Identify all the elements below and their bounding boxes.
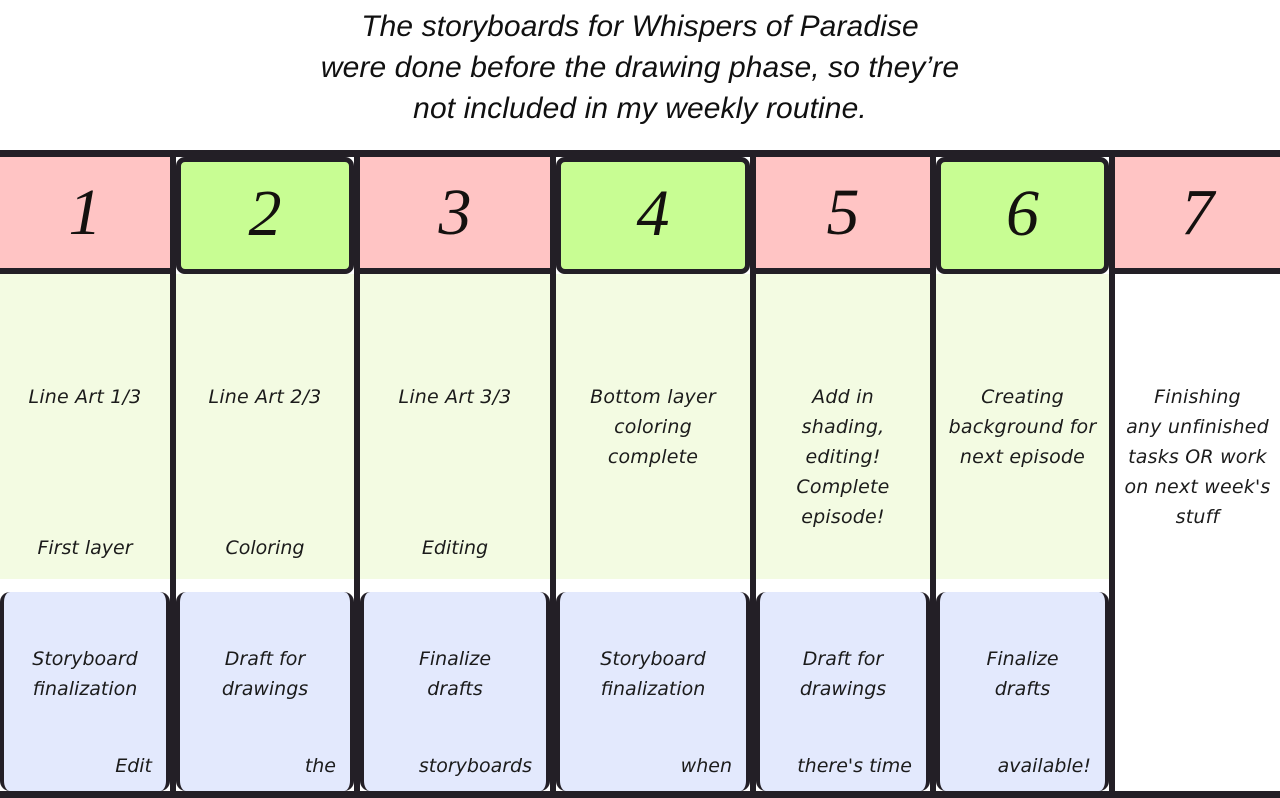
task-text: Line Art 2/3 [184,382,346,412]
task-footer-text [764,561,922,571]
caption-line-2: were done before the drawing phase, so t… [321,47,959,88]
note-text: Storyboardfinalization [16,644,154,704]
note-text: Finalizedrafts [376,644,534,704]
day-number-label: 4 [637,181,670,247]
section-gap [756,579,930,592]
task-cell-4[interactable]: Bottom layercoloringcomplete [556,274,750,579]
day-number-label: 2 [249,181,282,247]
day-column-3[interactable]: 3Line Art 3/3EditingFinalizedraftsstoryb… [360,157,556,791]
day-number-cell-6[interactable]: 6 [936,157,1109,274]
task-footer-text: Editing [368,535,542,571]
note-footer-text: there's time [770,753,916,785]
day-number-cell-1[interactable]: 1 [0,157,170,274]
note-cell-1[interactable]: StoryboardfinalizationEdit [0,592,170,791]
day-number-label: 6 [1006,181,1039,247]
section-gap [360,579,550,592]
note-cell-3[interactable]: Finalizedraftsstoryboards [360,592,550,791]
section-gap [0,579,170,592]
caption-line-3: not included in my weekly routine. [413,88,867,129]
day-column-1[interactable]: 1Line Art 1/3First layerStoryboardfinali… [0,157,176,791]
task-cell-6[interactable]: Creatingbackground fornext episode [936,274,1109,579]
note-cell-4[interactable]: Storyboardfinalizationwhen [556,592,750,791]
note-footer-text: Edit [14,753,156,785]
task-cell-2[interactable]: Line Art 2/3Coloring [176,274,354,579]
day-number-label: 1 [69,180,102,246]
day-number-cell-3[interactable]: 3 [360,157,550,274]
note-footer-text: storyboards [374,753,536,785]
section-gap [176,579,354,592]
note-cell-7[interactable] [1115,592,1280,791]
section-gap [556,579,750,592]
section-gap [1115,579,1280,592]
note-footer-text: when [570,753,736,785]
task-text: Creatingbackground fornext episode [944,382,1101,472]
task-text: Add inshading, editing!Completeepisode! [764,382,922,532]
note-cell-2[interactable]: Draft fordrawingsthe [176,592,354,791]
note-cell-6[interactable]: Finalizedraftsavailable! [936,592,1109,791]
task-text: Finishingany unfinishedtasks OR workon n… [1123,382,1272,532]
note-text: Draft fordrawings [772,644,914,704]
task-text: Line Art 3/3 [368,382,542,412]
task-footer-text [564,561,742,571]
day-column-5[interactable]: 5Add inshading, editing!Completeepisode!… [756,157,936,791]
day-number-cell-7[interactable]: 7 [1115,157,1280,274]
day-number-label: 7 [1181,180,1214,246]
day-columns: 1Line Art 1/3First layerStoryboardfinali… [0,157,1280,791]
note-footer-text [1125,779,1270,785]
note-text: Finalizedrafts [952,644,1093,704]
note-footer-text: available! [950,753,1095,785]
task-footer-text [1123,561,1272,571]
section-gap [936,579,1109,592]
task-cell-1[interactable]: Line Art 1/3First layer [0,274,170,579]
task-cell-7[interactable]: Finishingany unfinishedtasks OR workon n… [1115,274,1280,579]
day-number-cell-5[interactable]: 5 [756,157,930,274]
task-footer-text: First layer [8,535,162,571]
note-text: Draft fordrawings [192,644,338,704]
task-cell-3[interactable]: Line Art 3/3Editing [360,274,550,579]
day-column-7[interactable]: 7Finishingany unfinishedtasks OR workon … [1115,157,1280,791]
note-text: Storyboardfinalization [572,644,734,704]
task-cell-5[interactable]: Add inshading, editing!Completeepisode! [756,274,930,579]
day-column-6[interactable]: 6Creatingbackground fornext episodeFinal… [936,157,1115,791]
day-number-cell-4[interactable]: 4 [556,157,750,274]
task-footer-text: Coloring [184,535,346,571]
task-footer-text [944,561,1101,571]
task-text: Bottom layercoloringcomplete [564,382,742,472]
day-column-4[interactable]: 4Bottom layercoloringcompleteStoryboardf… [556,157,756,791]
day-number-label: 5 [827,180,860,246]
day-number-cell-2[interactable]: 2 [176,157,354,274]
caption-block: The storyboards for Whispers of Paradise… [0,0,1280,150]
note-footer-text: the [190,753,340,785]
day-column-2[interactable]: 2Line Art 2/3ColoringDraft fordrawingsth… [176,157,360,791]
day-number-label: 3 [439,180,472,246]
caption-line-1: The storyboards for Whispers of Paradise [361,6,919,47]
task-text: Line Art 1/3 [8,382,162,412]
note-cell-5[interactable]: Draft fordrawingsthere's time [756,592,930,791]
weekly-routine-board: 1Line Art 1/3First layerStoryboardfinali… [0,150,1280,798]
